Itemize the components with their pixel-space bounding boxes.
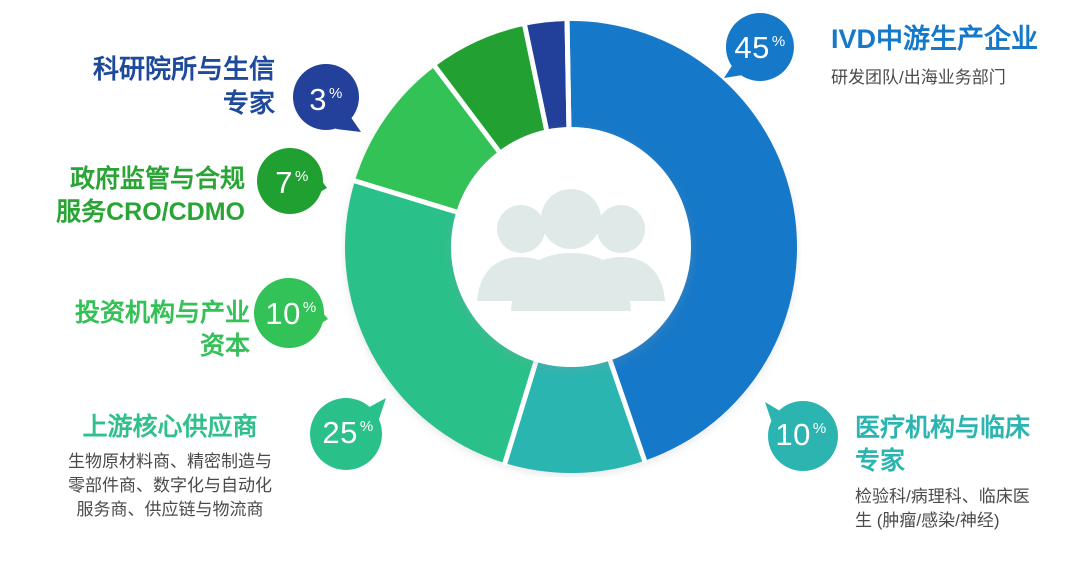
label-clinic-line2: 专家: [855, 445, 1080, 478]
label-research-title: 科研院所与生信 专家: [10, 53, 275, 121]
label-clinic-line1: 医疗机构与临床: [855, 412, 1080, 445]
label-ivd: IVD中游生产企业 研发团队/出海业务部门: [831, 22, 1076, 90]
percent-text-research: 3%: [309, 84, 343, 115]
label-upstream-sub-line1: 生物原材料商、精密制造与: [20, 450, 320, 474]
percent-bubble-gov[interactable]: 7%: [256, 146, 328, 218]
label-invest: 投资机构与产业 资本: [10, 297, 250, 362]
infographic-canvas: 45% 3% 7% 10%: [0, 0, 1080, 586]
percent-text-clinic: 10%: [775, 419, 826, 450]
percent-bubble-ivd[interactable]: 45%: [723, 10, 797, 84]
label-clinic-sub-line2: 生 (肿瘤/感染/神经): [855, 509, 1080, 533]
label-clinic-sub-line1: 检验科/病理科、临床医: [855, 485, 1080, 509]
percent-symbol: %: [360, 419, 374, 434]
label-ivd-subtitle: 研发团队/出海业务部门: [831, 66, 1076, 90]
label-gov-title: 政府监管与合规 服务CRO/CDMO: [0, 163, 245, 228]
percent-number: 45: [734, 32, 769, 63]
label-upstream-subtitle: 生物原材料商、精密制造与 零部件商、数字化与自动化 服务商、供应链与物流商: [20, 450, 320, 522]
percent-symbol: %: [295, 169, 309, 184]
label-upstream-sub-line2: 零部件商、数字化与自动化: [20, 474, 320, 498]
label-research: 科研院所与生信 专家: [10, 53, 275, 121]
donut-chart-svg: [341, 17, 801, 477]
percent-bubble-invest[interactable]: 10%: [253, 275, 329, 351]
percent-symbol: %: [813, 421, 827, 436]
donut-chart: [341, 17, 801, 477]
label-gov-line1: 政府监管与合规: [0, 163, 245, 196]
percent-number: 7: [275, 167, 293, 198]
label-clinic-title: 医疗机构与临床 专家: [855, 412, 1080, 477]
percent-number: 3: [309, 84, 327, 115]
label-upstream: 上游核心供应商 生物原材料商、精密制造与 零部件商、数字化与自动化 服务商、供应…: [20, 411, 320, 522]
label-research-line2: 专家: [10, 87, 275, 121]
label-research-line1: 科研院所与生信: [10, 53, 275, 87]
label-gov-line2: 服务CRO/CDMO: [0, 196, 245, 229]
percent-text-gov: 7%: [275, 167, 309, 198]
label-clinic-subtitle: 检验科/病理科、临床医 生 (肿瘤/感染/神经): [855, 485, 1080, 533]
percent-text-ivd: 45%: [734, 32, 785, 63]
percent-number: 10: [265, 298, 300, 329]
label-gov: 政府监管与合规 服务CRO/CDMO: [0, 163, 245, 228]
percent-bubble-clinic[interactable]: 10%: [763, 396, 839, 472]
percent-text-upstream: 25%: [322, 417, 373, 448]
label-invest-line1: 投资机构与产业: [10, 297, 250, 330]
percent-symbol: %: [772, 34, 786, 49]
label-invest-line2: 资本: [10, 330, 250, 363]
percent-symbol: %: [329, 86, 343, 101]
percent-text-invest: 10%: [265, 298, 316, 329]
label-ivd-title: IVD中游生产企业: [831, 22, 1076, 57]
label-upstream-title: 上游核心供应商: [20, 411, 320, 444]
percent-symbol: %: [303, 300, 317, 315]
label-upstream-sub-line3: 服务商、供应链与物流商: [20, 498, 320, 522]
percent-number: 25: [322, 417, 357, 448]
label-invest-title: 投资机构与产业 资本: [10, 297, 250, 362]
percent-number: 10: [775, 419, 810, 450]
label-clinic: 医疗机构与临床 专家 检验科/病理科、临床医 生 (肿瘤/感染/神经): [855, 412, 1080, 533]
percent-bubble-upstream[interactable]: 25%: [308, 392, 388, 472]
percent-bubble-research[interactable]: 3%: [290, 63, 362, 135]
